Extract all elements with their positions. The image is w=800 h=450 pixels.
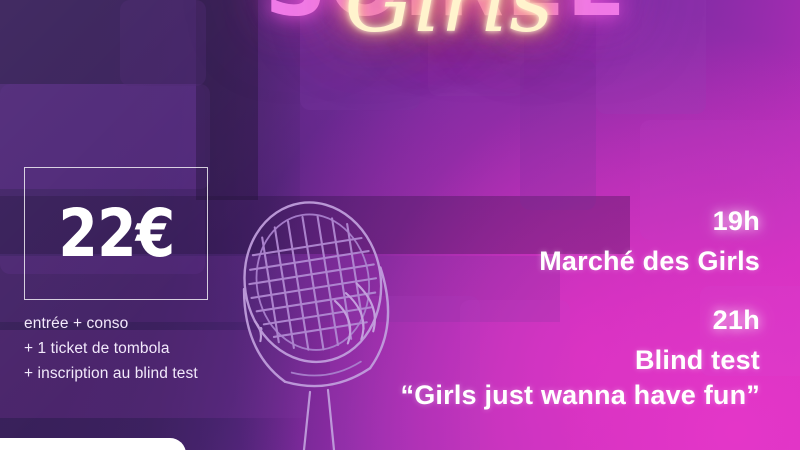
bottom-left-white-shape xyxy=(0,438,186,450)
schedule-slot: 19h Marché des Girls xyxy=(290,206,760,279)
schedule-list: 19h Marché des Girls 21h Blind test “Gir… xyxy=(290,206,760,413)
headline-script-word: Girls xyxy=(264,0,634,52)
event-poster: SOIRÉE Girls xyxy=(0,0,800,450)
schedule-slot: 21h Blind test “Girls just wanna have fu… xyxy=(290,305,760,413)
schedule-title: Marché des Girls xyxy=(290,244,760,279)
poster-headline: SOIRÉE Girls xyxy=(236,0,656,56)
price-card: 22€ xyxy=(24,167,208,300)
price-amount: 22€ xyxy=(58,201,174,267)
schedule-time: 19h xyxy=(290,206,760,238)
schedule-title: Blind test xyxy=(290,343,760,378)
schedule-time: 21h xyxy=(290,305,760,337)
schedule-subtitle: “Girls just wanna have fun” xyxy=(290,378,760,413)
